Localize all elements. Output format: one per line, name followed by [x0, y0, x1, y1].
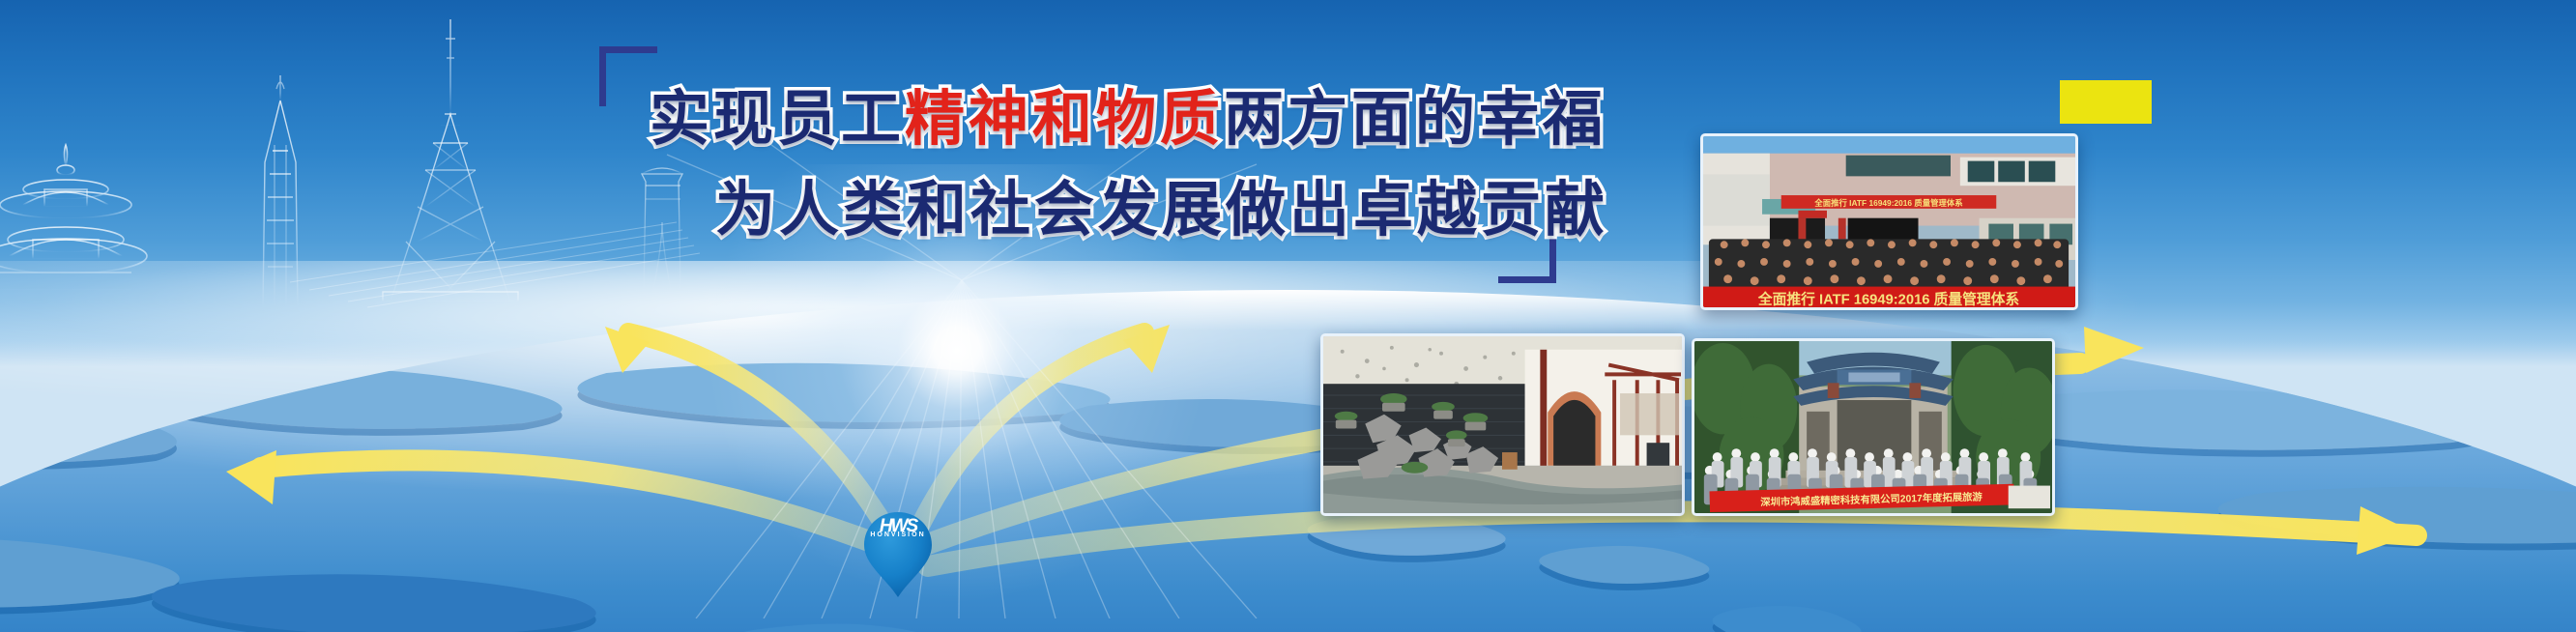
photo-iatf-artwork: 全面推行 IATF 16949:2016 质量管理体系	[1703, 136, 2075, 310]
photo-iatf-banner-bottom-text: 全面推行 IATF 16949:2016 质量管理体系	[1757, 290, 2019, 307]
photo-courtyard-artwork	[1323, 336, 1682, 516]
globe-landmasses	[0, 290, 2576, 632]
bracket-top-left	[599, 46, 657, 106]
accent-yellow-rectangle	[2060, 80, 2152, 124]
photo-iatf-banner-top-text: 全面推行 IATF 16949:2016 质量管理体系	[1813, 198, 1963, 208]
photo-iatf-group[interactable]: 全面推行 IATF 16949:2016 质量管理体系	[1700, 133, 2078, 310]
globe-surface	[0, 290, 2576, 632]
map-pin-brand[interactable]: HWS HONVISION	[862, 510, 934, 599]
brand-name: HONVISION	[862, 531, 934, 538]
slogan-line1-pre: 实现员工	[650, 86, 905, 153]
photo-courtyard-garden[interactable]	[1320, 333, 1685, 516]
slogan-line1-post: 两方面的幸福	[1224, 86, 1606, 153]
slogan-line1-highlight: 精神和物质	[905, 86, 1224, 153]
company-culture-banner: 实现员工精神和物质两方面的幸福 为人类和社会发展做出卓越贡献 全面推行 IATF…	[0, 0, 2576, 632]
slogan-block: 实现员工精神和物质两方面的幸福 为人类和社会发展做出卓越贡献	[599, 46, 1556, 283]
photo-outing-group[interactable]: 深圳市鸿威盛精密科技有限公司2017年度拓展旅游	[1692, 338, 2055, 516]
slogan-line-1: 实现员工精神和物质两方面的幸福	[650, 70, 1606, 157]
photo-outing-artwork: 深圳市鸿威盛精密科技有限公司2017年度拓展旅游	[1694, 341, 2052, 516]
slogan-line-2: 为人类和社会发展做出卓越贡献	[715, 160, 1608, 247]
